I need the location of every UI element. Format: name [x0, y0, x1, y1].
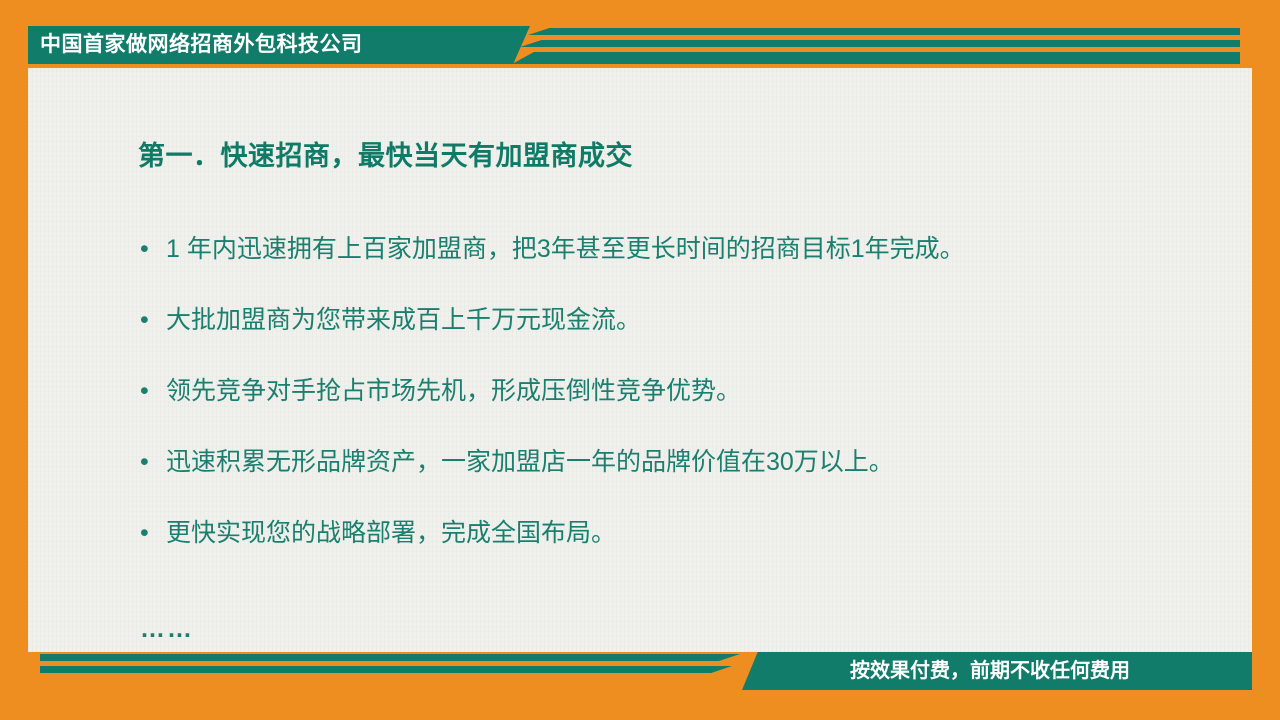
list-item-label: 大批加盟商为您带来成百上千万元现金流。	[166, 303, 641, 337]
list-item: • 1 年内迅速拥有上百家加盟商，把3年甚至更长时间的招商目标1年完成。	[140, 232, 1210, 266]
list-item: • 迅速积累无形品牌资产，一家加盟店一年的品牌价值在30万以上。	[140, 445, 1210, 479]
list-item-label: 更快实现您的战略部署，完成全国布局。	[166, 516, 616, 550]
footer-stripe-top	[40, 654, 740, 661]
list-item-label: 1 年内迅速拥有上百家加盟商，把3年甚至更长时间的招商目标1年完成。	[166, 232, 965, 266]
presentation-slide: 中国首家做网络招商外包科技公司 第一．快速招商，最快当天有加盟商成交 • 1 年…	[0, 0, 1280, 720]
bullet-list: • 1 年内迅速拥有上百家加盟商，把3年甚至更长时间的招商目标1年完成。 • 大…	[140, 232, 1210, 587]
slide-heading: 第一．快速招商，最快当天有加盟商成交	[138, 134, 633, 173]
header-stripe-bottom	[512, 52, 1240, 64]
header-green-slant-shape	[470, 26, 530, 64]
list-item: • 大批加盟商为您带来成百上千万元现金流。	[140, 303, 1210, 337]
list-item-label: 领先竞争对手抢占市场先机，形成压倒性竞争优势。	[166, 374, 741, 408]
header-stripe-top	[528, 28, 1240, 35]
header-title: 中国首家做网络招商外包科技公司	[40, 26, 363, 64]
list-item-label: 迅速积累无形品牌资产，一家加盟店一年的品牌价值在30万以上。	[166, 445, 894, 479]
header-stripe-middle	[520, 40, 1240, 47]
footer-stripe-bottom	[40, 666, 732, 673]
list-item: • 更快实现您的战略部署，完成全国布局。	[140, 516, 1210, 550]
slide-header: 中国首家做网络招商外包科技公司	[0, 0, 1280, 68]
bullet-dot-icon: •	[140, 516, 166, 550]
ellipsis-text: ……	[140, 615, 194, 644]
footer-tagline: 按效果付费，前期不收任何费用	[850, 652, 1130, 690]
slide-footer: 按效果付费，前期不收任何费用	[0, 652, 1280, 720]
bullet-dot-icon: •	[140, 303, 166, 337]
list-item: • 领先竞争对手抢占市场先机，形成压倒性竞争优势。	[140, 374, 1210, 408]
bullet-dot-icon: •	[140, 445, 166, 479]
bullet-dot-icon: •	[140, 232, 166, 266]
bullet-dot-icon: •	[140, 374, 166, 408]
